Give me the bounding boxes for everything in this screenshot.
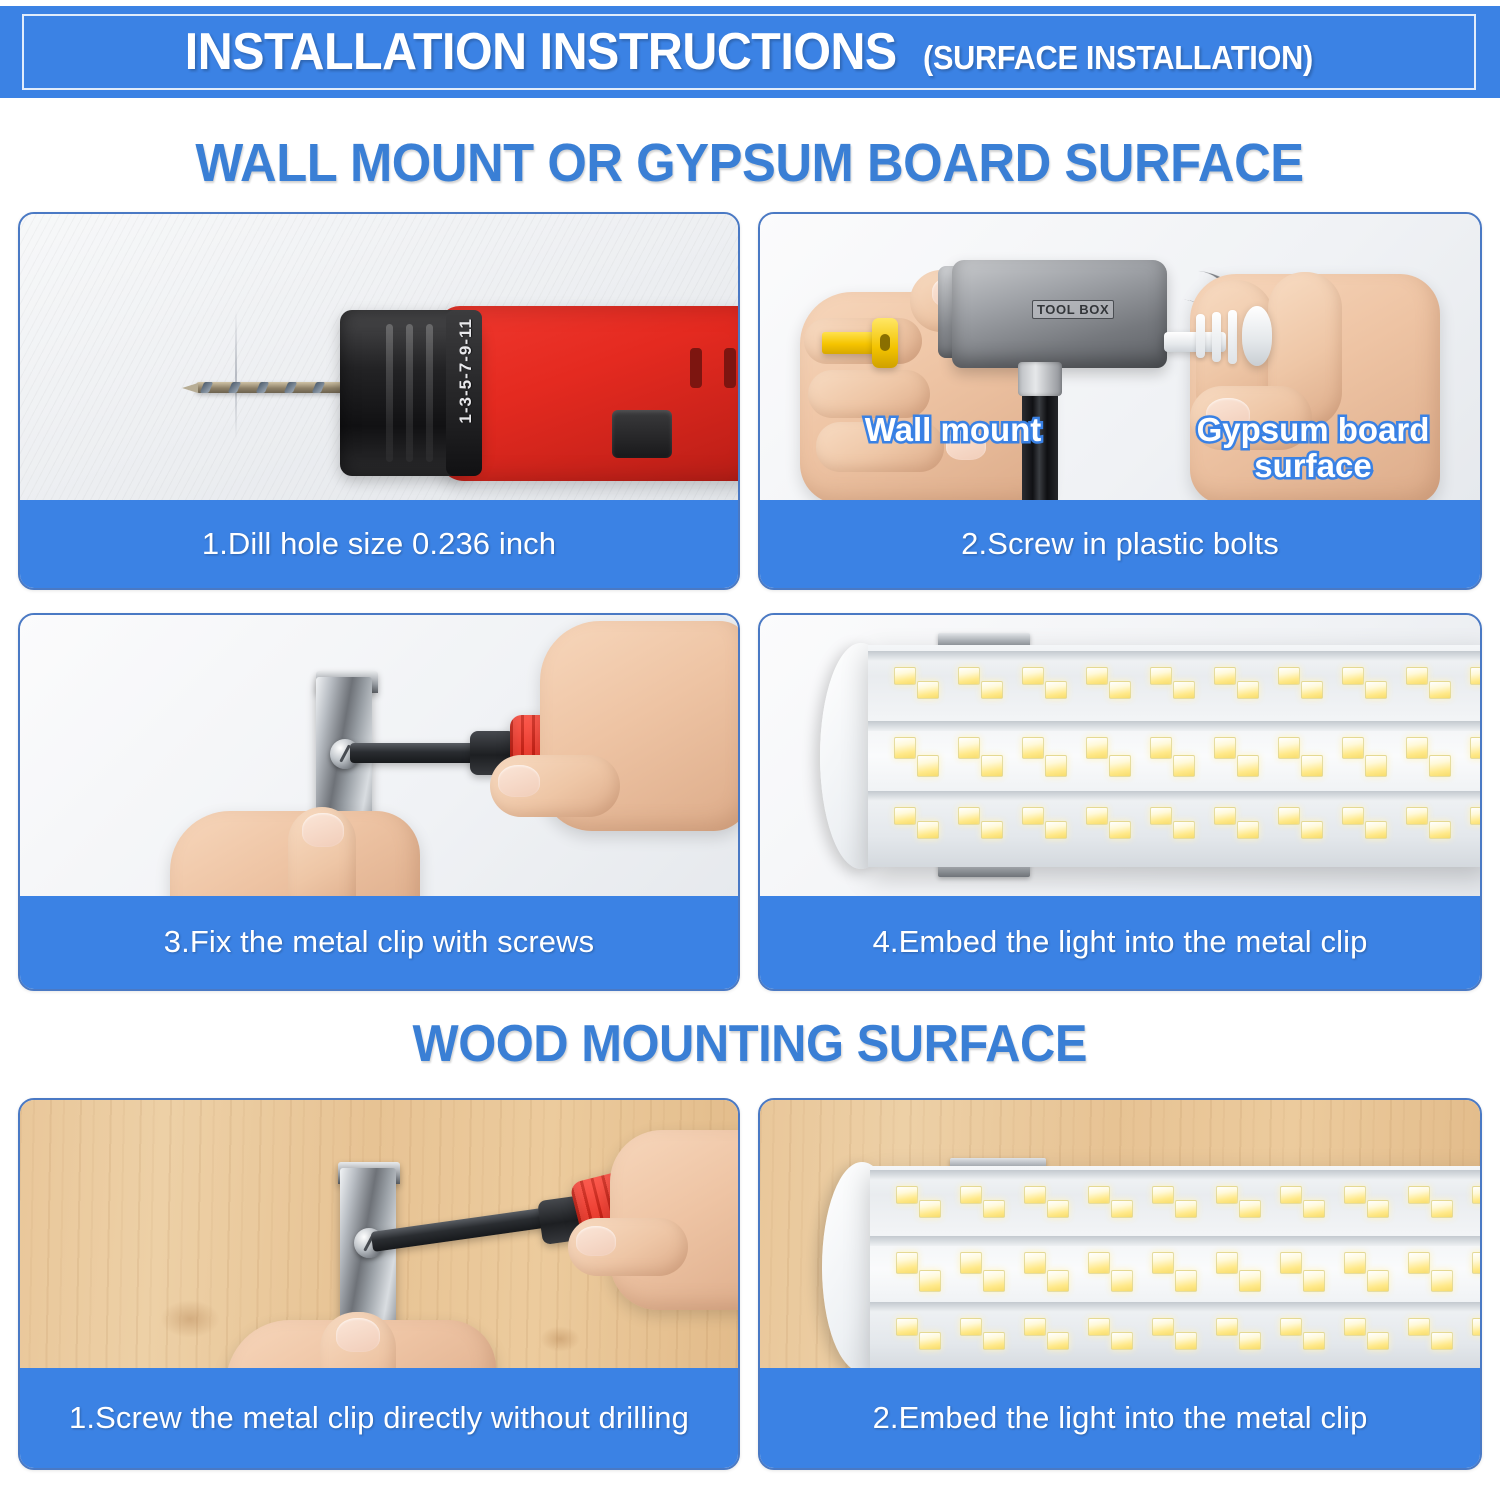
led-chip — [917, 681, 939, 699]
section-heading-wood-mount-label: WOOD MOUNTING SURFACE — [413, 1014, 1087, 1074]
led-chip — [896, 1318, 918, 1336]
led-chip — [1024, 1318, 1046, 1336]
header-banner: INSTALLATION INSTRUCTIONS (SURFACE INSTA… — [0, 6, 1500, 98]
led-chip — [1365, 821, 1387, 839]
led-chip — [1470, 807, 1480, 825]
drill-hole-mark — [235, 310, 237, 440]
led-chip — [983, 1200, 1005, 1218]
led-chip — [1237, 821, 1259, 839]
led-chip — [1280, 1186, 1302, 1204]
drill-body — [438, 306, 738, 481]
led-chip — [958, 737, 980, 759]
led-chip — [1175, 1270, 1197, 1292]
led-chip — [960, 1252, 982, 1274]
step-1-photo: 1-3-5-7-9-11 — [20, 214, 738, 504]
led-chip — [1344, 1318, 1366, 1336]
drill-bit-tip — [182, 383, 198, 393]
led-chip — [1239, 1200, 1261, 1218]
led-chip — [1088, 1186, 1110, 1204]
led-chip — [1109, 681, 1131, 699]
overlay-label-gypsum-board: Gypsum board surface — [1178, 412, 1448, 483]
led-chip — [1406, 807, 1428, 825]
led-chip — [1342, 807, 1364, 825]
led-chip — [1175, 1200, 1197, 1218]
led-chip — [1045, 755, 1067, 777]
led-chip — [1150, 807, 1172, 825]
led-chip — [981, 755, 1003, 777]
gypsum-anchor-flange — [1212, 312, 1221, 362]
step-5-caption: 1.Screw the metal clip directly without … — [20, 1368, 738, 1468]
step-panel-3: 3.Fix the metal clip with screws — [18, 613, 740, 991]
led-chip — [1239, 1332, 1261, 1350]
led-chip — [1367, 1270, 1389, 1292]
wood-knot — [160, 1300, 220, 1338]
led-chip — [1086, 737, 1108, 759]
led-chip — [1472, 1318, 1480, 1336]
led-chip — [1408, 1252, 1430, 1274]
led-chip — [1088, 1252, 1110, 1274]
led-chip — [1303, 1200, 1325, 1218]
led-chip — [917, 755, 939, 777]
led-chip — [917, 821, 939, 839]
led-chip — [1150, 737, 1172, 759]
led-chip — [1237, 755, 1259, 777]
led-chip — [894, 737, 916, 759]
led-chip — [1216, 1252, 1238, 1274]
led-chip — [1367, 1332, 1389, 1350]
led-chip — [896, 1186, 918, 1204]
led-chip — [1344, 1252, 1366, 1274]
led-chip — [1342, 667, 1364, 685]
led-chip — [983, 1270, 1005, 1292]
led-chip — [1472, 1252, 1480, 1274]
led-light-fixture — [868, 645, 1480, 867]
hammer-ferrule — [1018, 362, 1062, 396]
led-chip — [1047, 1200, 1069, 1218]
led-chip — [1472, 1186, 1480, 1204]
led-chip — [1047, 1270, 1069, 1292]
led-chip — [919, 1200, 941, 1218]
section-heading-wall-mount: WALL MOUNT OR GYPSUM BOARD SURFACE — [0, 132, 1500, 194]
led-chip — [1024, 1186, 1046, 1204]
led-chip — [1301, 755, 1323, 777]
step-6-photo — [760, 1100, 1480, 1372]
fingernail — [498, 765, 540, 797]
led-chip — [1045, 681, 1067, 699]
led-chip — [958, 807, 980, 825]
led-chip — [1150, 667, 1172, 685]
led-chip — [1301, 681, 1323, 699]
banner-text-group: INSTALLATION INSTRUCTIONS (SURFACE INSTA… — [158, 22, 1343, 82]
led-chip — [1301, 821, 1323, 839]
led-chip — [1216, 1318, 1238, 1336]
led-chip — [894, 807, 916, 825]
led-chip — [1344, 1186, 1366, 1204]
led-chip — [981, 681, 1003, 699]
led-chip — [1431, 1270, 1453, 1292]
led-chip — [1429, 681, 1451, 699]
led-chip — [1216, 1186, 1238, 1204]
step-2-photo: TOOL BOX Wall mount Gypsum board surface — [760, 214, 1480, 504]
led-chip — [1470, 667, 1480, 685]
led-groove — [868, 721, 1480, 731]
led-chip — [1278, 737, 1300, 759]
drill-bit — [196, 382, 346, 393]
led-chip — [1111, 1270, 1133, 1292]
led-chip — [1214, 667, 1236, 685]
overlay-label-wall-mount: Wall mount — [838, 412, 1068, 448]
page-title: INSTALLATION INSTRUCTIONS — [184, 22, 896, 82]
led-light-fixture — [870, 1166, 1480, 1372]
yellow-wall-anchor-hole — [880, 334, 890, 351]
led-chip — [1408, 1318, 1430, 1336]
led-chip — [960, 1186, 982, 1204]
led-chip — [1022, 737, 1044, 759]
step-5-photo — [20, 1100, 738, 1372]
led-chip — [1022, 807, 1044, 825]
step-panel-6: 2.Embed the light into the metal clip — [758, 1098, 1482, 1470]
led-chip — [981, 821, 1003, 839]
led-chip — [1173, 821, 1195, 839]
led-chip — [1173, 681, 1195, 699]
led-chip — [1408, 1186, 1430, 1204]
led-chip — [1303, 1332, 1325, 1350]
led-chip — [919, 1332, 941, 1350]
led-chip — [1278, 807, 1300, 825]
led-chip — [1111, 1200, 1133, 1218]
led-chip — [1152, 1186, 1174, 1204]
led-chip — [1278, 667, 1300, 685]
led-chip — [1111, 1332, 1133, 1350]
led-chip — [1086, 807, 1108, 825]
led-chip — [1047, 1332, 1069, 1350]
step-6-caption: 2.Embed the light into the metal clip — [760, 1368, 1480, 1468]
led-chip — [1367, 1200, 1389, 1218]
led-chip — [1214, 737, 1236, 759]
drill-vent — [690, 348, 702, 388]
led-chip — [1342, 737, 1364, 759]
led-chip — [1365, 755, 1387, 777]
led-chip — [1152, 1252, 1174, 1274]
step-4-caption: 4.Embed the light into the metal clip — [760, 896, 1480, 989]
led-groove — [870, 1170, 1480, 1180]
led-chip — [894, 667, 916, 685]
led-chip — [1280, 1318, 1302, 1336]
fingernail — [302, 813, 344, 847]
gypsum-anchor-flange — [1196, 314, 1205, 358]
drill-switch — [612, 410, 672, 458]
step-3-caption: 3.Fix the metal clip with screws — [20, 896, 738, 989]
led-chip — [1022, 667, 1044, 685]
led-chip — [1152, 1318, 1174, 1336]
step-panel-4: 4.Embed the light into the metal clip — [758, 613, 1482, 991]
gypsum-anchor-head — [1242, 306, 1272, 366]
led-chip — [1431, 1200, 1453, 1218]
led-chip — [1173, 755, 1195, 777]
led-chip — [1237, 681, 1259, 699]
wood-knot — [540, 1326, 580, 1352]
led-chip — [1431, 1332, 1453, 1350]
step-4-photo — [760, 615, 1480, 900]
fingernail — [336, 1318, 380, 1352]
led-chip — [1239, 1270, 1261, 1292]
step-2-caption: 2.Screw in plastic bolts — [760, 500, 1480, 588]
drill-torque-scale: 1-3-5-7-9-11 — [456, 318, 476, 424]
led-chip — [919, 1270, 941, 1292]
step-3-photo — [20, 615, 738, 900]
led-chip — [1024, 1252, 1046, 1274]
step-1-caption: 1.Dill hole size 0.236 inch — [20, 500, 738, 588]
led-chip — [1088, 1318, 1110, 1336]
hammer-brand-label: TOOL BOX — [1032, 300, 1114, 319]
led-chip — [1406, 667, 1428, 685]
led-chip — [1429, 755, 1451, 777]
led-chip — [983, 1332, 1005, 1350]
led-chip — [1470, 737, 1480, 759]
led-chip — [896, 1252, 918, 1274]
led-chip — [1365, 681, 1387, 699]
led-chip — [1109, 821, 1131, 839]
led-chip — [958, 667, 980, 685]
step-panel-1: 1-3-5-7-9-11 1.Dill hole size 0.236 inch — [18, 212, 740, 590]
led-chip — [1280, 1252, 1302, 1274]
led-groove — [868, 651, 1480, 661]
led-chip — [1429, 821, 1451, 839]
step-panel-5: 1.Screw the metal clip directly without … — [18, 1098, 740, 1470]
led-chip — [1406, 737, 1428, 759]
led-groove — [868, 791, 1480, 801]
led-chip — [960, 1318, 982, 1336]
section-heading-wood-mount: WOOD MOUNTING SURFACE — [0, 1014, 1500, 1074]
section-heading-wall-mount-label: WALL MOUNT OR GYPSUM BOARD SURFACE — [196, 132, 1304, 194]
led-chip — [1109, 755, 1131, 777]
led-chip — [1086, 667, 1108, 685]
led-chip — [1175, 1332, 1197, 1350]
led-groove — [870, 1236, 1480, 1246]
gypsum-anchor-flange — [1228, 310, 1237, 364]
led-chip — [1303, 1270, 1325, 1292]
fingernail — [576, 1226, 616, 1256]
led-chip — [1214, 807, 1236, 825]
step-panel-2: TOOL BOX Wall mount Gypsum board surface… — [758, 212, 1482, 590]
page-subtitle: (SURFACE INSTALLATION) — [923, 39, 1313, 77]
led-groove — [870, 1302, 1480, 1312]
led-chip — [1045, 821, 1067, 839]
